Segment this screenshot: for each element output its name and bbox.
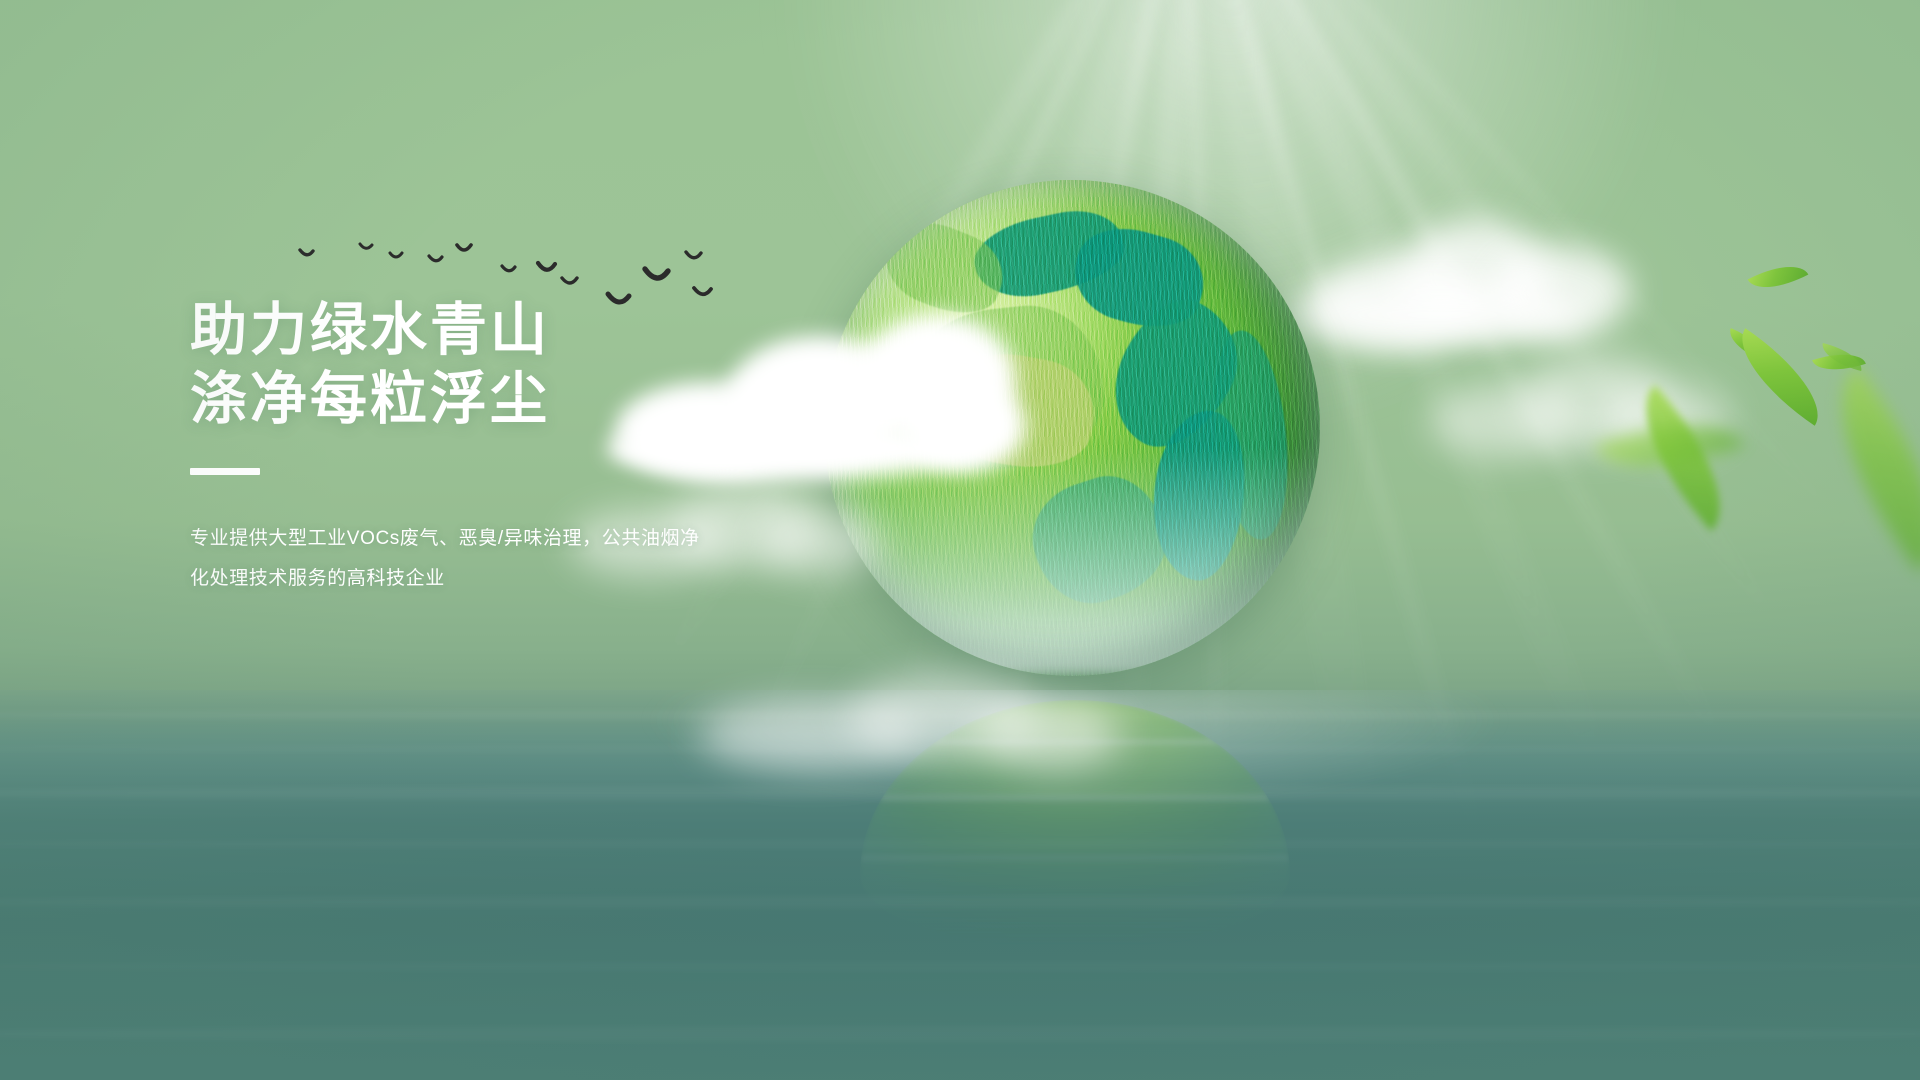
- hero-subtitle: 专业提供大型工业VOCs废气、恶臭/异味治理，公共油烟净 化处理技术服务的高科技…: [190, 519, 730, 599]
- leaf-1: [1748, 253, 1809, 300]
- bird-icon: [538, 263, 555, 270]
- headline-line-1: 助力绿水青山: [190, 296, 890, 365]
- leaf-7: [1796, 366, 1920, 572]
- subtitle-line-1: 专业提供大型工业VOCs废气、恶臭/异味治理，公共油烟净: [190, 519, 730, 559]
- title-divider: [190, 468, 260, 475]
- bird-icon: [360, 244, 372, 248]
- bird-icon: [645, 269, 668, 278]
- bird-icon: [390, 253, 402, 257]
- bird-icon: [429, 256, 442, 261]
- page-title: 助力绿水青山 涤净每粒浮尘: [190, 296, 890, 434]
- hero-copy: 助力绿水青山 涤净每粒浮尘 专业提供大型工业VOCs废气、恶臭/异味治理，公共油…: [190, 296, 890, 599]
- hero-banner: 助力绿水青山 涤净每粒浮尘 专业提供大型工业VOCs废气、恶臭/异味治理，公共油…: [0, 0, 1920, 1080]
- bird-icon: [562, 278, 577, 283]
- bird-icon: [300, 250, 313, 255]
- bird-icon: [686, 252, 701, 258]
- bird-icon: [457, 245, 471, 250]
- subtitle-line-2: 化处理技术服务的高科技企业: [190, 559, 730, 599]
- cloud-right-upper: [1290, 200, 1650, 360]
- earth-globe: [824, 180, 1320, 676]
- bird-icon: [694, 288, 711, 294]
- headline-line-2: 涤净每粒浮尘: [190, 365, 890, 434]
- bird-icon: [502, 266, 515, 271]
